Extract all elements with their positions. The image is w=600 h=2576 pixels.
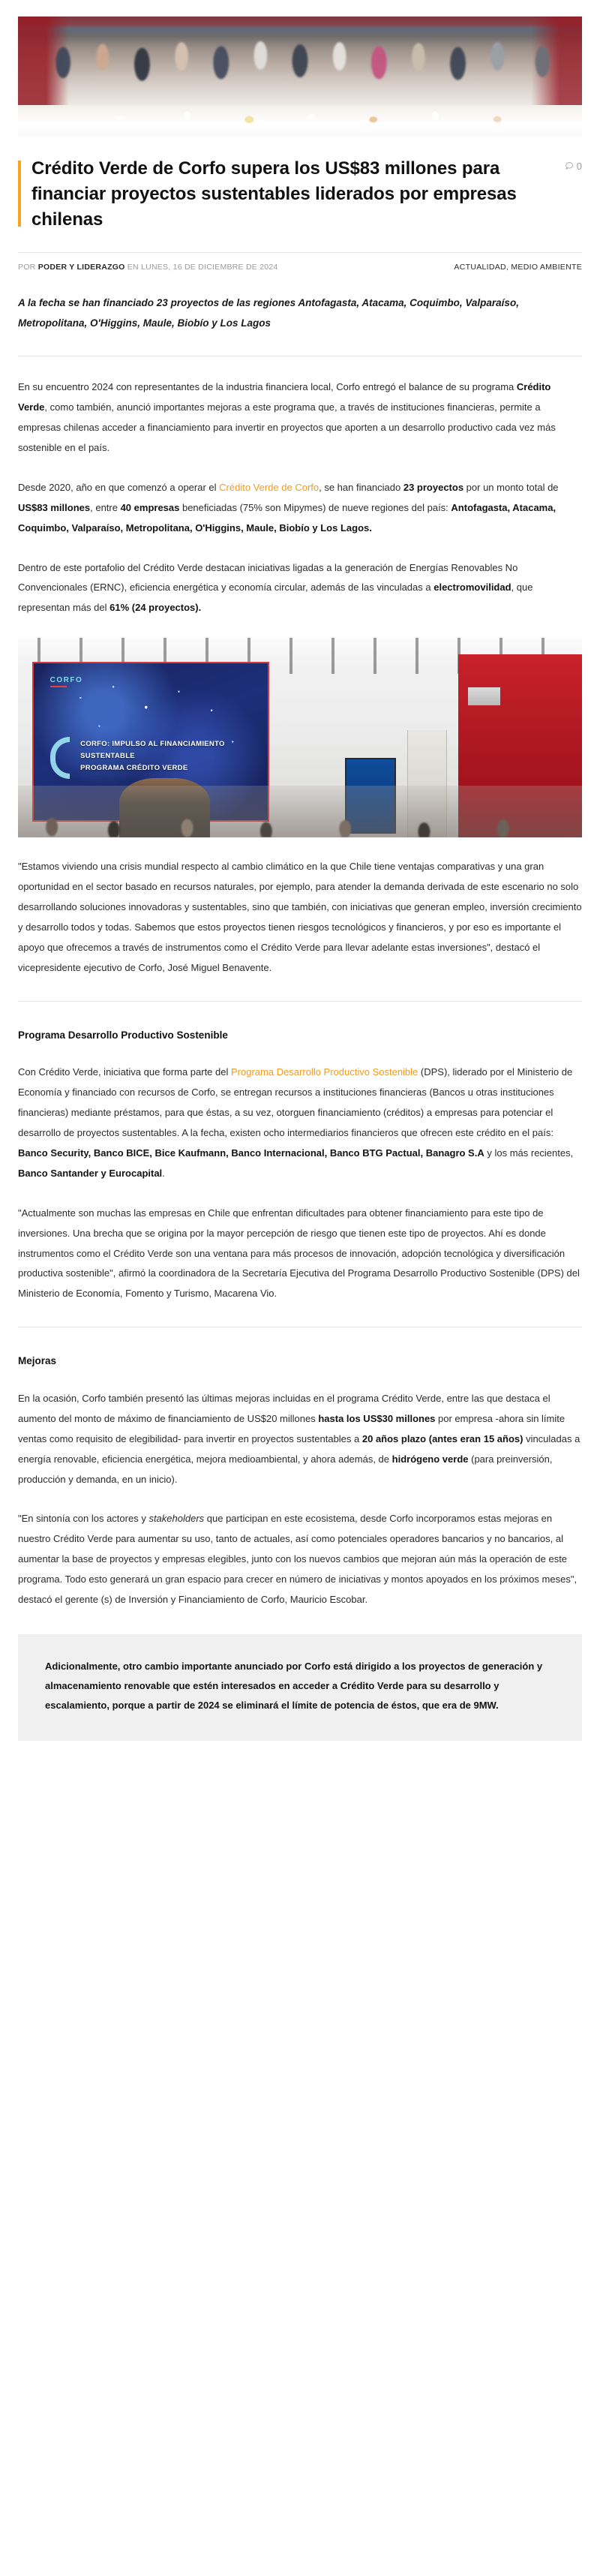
article-body-mejoras: Mejoras En la ocasión, Corfo también pre… [18, 1353, 582, 1610]
callout-text: Adicionalmente, otro cambio importante a… [45, 1657, 555, 1715]
byline: POR PODER Y LIDERAZGO EN LUNES, 16 DE DI… [18, 263, 582, 272]
divider-before-dps [18, 1001, 582, 1002]
p7-bold-hidrogeno-verde: hidrógeno verde [392, 1453, 469, 1465]
link-credito-verde-de-corfo[interactable]: Crédito Verde de Corfo [219, 482, 319, 493]
divider-below-lead [18, 356, 582, 356]
p1-text-a: En su encuentro 2024 con representantes … [18, 381, 517, 392]
link-programa-dps[interactable]: Programa Desarrollo Productivo Sostenibl… [231, 1066, 418, 1078]
corfo-logo: CORFO [50, 676, 83, 684]
p8-text-a: "En sintonía con los actores y [18, 1513, 148, 1524]
comment-bubble-icon [565, 161, 574, 171]
p5-bold-bancos-1: Banco Security, Banco BICE, Bice Kaufman… [18, 1147, 484, 1159]
p2-text-d: , entre [90, 502, 120, 513]
paragraph-1: En su encuentro 2024 con representantes … [18, 377, 582, 458]
accent-bar [18, 161, 21, 227]
p3-bold-electromovilidad: electromovilidad [433, 582, 511, 593]
byline-author[interactable]: PODER Y LIDERAZGO [38, 263, 125, 272]
article-page: Crédito Verde de Corfo supera los US$83 … [0, 17, 600, 1748]
byline-by-label: POR [18, 263, 36, 272]
p8-italic-stakeholders: stakeholders [148, 1513, 204, 1524]
paragraph-2: Desde 2020, año en que comenzó a operar … [18, 478, 582, 539]
hero-photo-table [18, 105, 582, 137]
article-lead: A la fecha se han financiado 23 proyecto… [18, 293, 582, 333]
p5-text-a: Con Crédito Verde, iniciativa que forma … [18, 1066, 231, 1078]
p2-bold-40-empresas: 40 empresas [121, 502, 180, 513]
p5-bold-bancos-2: Banco Santander y Eurocapital [18, 1168, 162, 1179]
p2-text-c: por un monto total de [463, 482, 558, 493]
divider-above-byline [18, 252, 582, 253]
slide-line-2: SUSTENTABLE [80, 750, 253, 762]
p1-text-c: , como también, anunció importantes mejo… [18, 401, 556, 453]
p7-bold-20-anios-plazo: 20 años plazo (antes eran 15 años) [362, 1433, 523, 1444]
headline-block: Crédito Verde de Corfo supera los US$83 … [18, 156, 582, 233]
p5-text-c: y los más recientes, [484, 1147, 574, 1159]
inline-image: CORFO CORFO: IMPULSO AL FINANCIAMIENTO S… [18, 638, 582, 837]
callout-box: Adicionalmente, otro cambio importante a… [18, 1634, 582, 1741]
p7-bold-us30-millones: hasta los US$30 millones [318, 1413, 435, 1424]
divider-before-mejoras [18, 1327, 582, 1327]
byline-categories[interactable]: ACTUALIDAD, MEDIO AMBIENTE [454, 263, 582, 272]
byline-date-prefix: EN [127, 263, 139, 272]
p2-text-e: beneficiadas (75% son Mipymes) de nueve … [179, 502, 451, 513]
page-title: Crédito Verde de Corfo supera los US$83 … [31, 156, 554, 233]
p2-bold-23-proyectos: 23 proyectos [403, 482, 463, 493]
article-body-continued: "Estamos viviendo una crisis mundial res… [18, 857, 582, 978]
p5-text-d: . [162, 1168, 165, 1179]
paragraph-8-quote: "En sintonía con los actores y stakehold… [18, 1509, 582, 1610]
byline-date: LUNES, 16 DE DICIEMBRE DE 2024 [141, 263, 278, 272]
p2-bold-us83-millones: US$83 millones [18, 502, 90, 513]
subheading-mejoras: Mejoras [18, 1353, 582, 1369]
p2-text-b: , se han financiado [319, 482, 403, 493]
paragraph-4-quote: "Estamos viviendo una crisis mundial res… [18, 857, 582, 978]
slide-line-3: PROGRAMA CRÉDITO VERDE [80, 762, 253, 774]
paragraph-5: Con Crédito Verde, iniciativa que forma … [18, 1063, 582, 1183]
comment-count-value: 0 [577, 161, 582, 172]
byline-left: POR PODER Y LIDERAZGO EN LUNES, 16 DE DI… [18, 263, 278, 272]
p8-text-b: que participan en este ecosistema, desde… [18, 1513, 577, 1605]
slide-line-1: CORFO: IMPULSO AL FINANCIAMIENTO [80, 738, 253, 750]
p3-bold-61-porciento: 61% (24 proyectos). [109, 602, 201, 613]
inline-image-slide-text: CORFO: IMPULSO AL FINANCIAMIENTO SUSTENT… [80, 738, 253, 774]
comment-count[interactable]: 0 [565, 161, 582, 172]
hero-image [18, 17, 582, 137]
article-body: En su encuentro 2024 con representantes … [18, 377, 582, 618]
article-body-dps: Programa Desarrollo Productivo Sostenibl… [18, 1027, 582, 1305]
p2-text-a: Desde 2020, año en que comenzó a operar … [18, 482, 219, 493]
paragraph-6-quote: "Actualmente son muchas las empresas en … [18, 1204, 582, 1305]
paragraph-7: En la ocasión, Corfo también presentó la… [18, 1389, 582, 1490]
subheading-dps: Programa Desarrollo Productivo Sostenibl… [18, 1027, 582, 1044]
paragraph-3: Dentro de este portafolio del Crédito Ve… [18, 558, 582, 619]
inline-image-audience [18, 786, 582, 837]
